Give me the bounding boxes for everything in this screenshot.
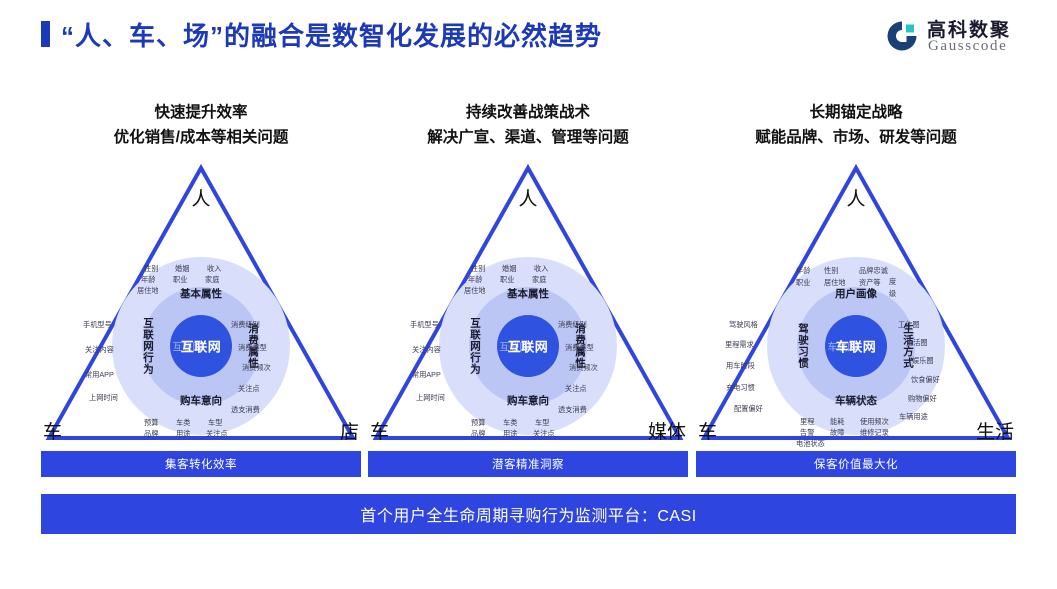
tag-3-b2b: 故障: [830, 428, 844, 438]
tag-2-b2a: 品牌: [471, 429, 485, 439]
tags-1: 性别 婚姻 收入 年龄 职业 家庭 居住地 手机型号 关注内容 常用APP 上网…: [41, 160, 361, 445]
tag-2-b2c: 关注点: [533, 429, 555, 439]
tag-1-b2a: 品牌: [144, 429, 158, 439]
logo-text-en: Gausscode: [928, 38, 1007, 55]
tag-1-l3: 常用APP: [85, 370, 114, 380]
tag-2-l4: 上网时间: [416, 393, 445, 403]
tag-2-r4: 关注点: [565, 384, 587, 394]
tag-3-l1: 驾驶风格: [729, 320, 758, 330]
tag-3-b2a: 告警: [800, 428, 814, 438]
title-accent-bar: [41, 21, 50, 47]
tag-1-r4: 关注点: [238, 384, 260, 394]
tags-2: 性别 婚姻 收入 年龄 职业 家庭 居住地 手机型号 关注内容 常用APP 上网…: [368, 160, 688, 445]
brand-logo: 高科数聚 Gausscode: [885, 15, 1035, 59]
tag-2-b1b: 车类: [503, 418, 517, 428]
tag-2-t2a: 年龄: [468, 275, 482, 285]
tag-3-l2: 里程需求: [725, 340, 754, 350]
tag-3-t2a: 职业: [796, 278, 810, 288]
footer-bar-1[interactable]: 集客转化效率: [41, 451, 361, 477]
tag-3-b3a: 电池状态: [796, 439, 825, 449]
column-heading-2-line2: 解决广宣、渠道、管理等问题: [368, 125, 688, 150]
tag-3-r1: 工作圈: [898, 320, 920, 330]
panel-2: 人 车 媒体 互联网 互联网 基本属性 购车意向 互联网行为 消费属性 性别 婚…: [368, 160, 688, 445]
tag-1-t1c: 收入: [207, 264, 221, 274]
tag-2-t2b: 职业: [500, 275, 514, 285]
tag-3-b1b: 能耗: [830, 417, 844, 427]
tag-1-l1: 手机型号: [83, 320, 112, 330]
tag-3-t2b: 居住地: [824, 278, 846, 288]
tag-2-t1c: 收入: [534, 264, 548, 274]
tag-2-r2: 消费类型: [565, 343, 594, 353]
tag-1-b1c: 车型: [208, 418, 222, 428]
tag-3-b1a: 里程: [800, 417, 814, 427]
tags-3: 年龄 性别 品牌忠诚 职业 居住地 资产等 度 级 驾驶风格 里程需求 用车时段…: [696, 160, 1016, 445]
tag-3-t1c: 品牌忠诚: [859, 266, 888, 276]
column-heading-2: 持续改善战策战术 解决广宣、渠道、管理等问题: [368, 100, 688, 150]
column-heading-3-line2: 赋能品牌、市场、研发等问题: [696, 125, 1016, 150]
tag-2-b1c: 车型: [535, 418, 549, 428]
panel-3: 人 车 生活 车联网 车联网 用户画像 车辆状态 驾驶习惯 生活方式 年龄 性别…: [696, 160, 1016, 445]
tag-3-l5: 配置偏好: [734, 404, 763, 414]
tag-1-r1: 消费级别: [231, 320, 260, 330]
tag-1-r3: 消费频次: [242, 363, 271, 373]
column-heading-1-line1: 快速提升效率: [41, 100, 361, 125]
tag-1-t2c: 家庭: [205, 275, 219, 285]
tag-1-t3a: 居住地: [137, 286, 159, 296]
tag-1-t2a: 年龄: [141, 275, 155, 285]
tag-3-l4: 充电习惯: [726, 383, 755, 393]
tag-3-t1a: 年龄: [796, 266, 810, 276]
tag-1-r5: 透支消费: [231, 405, 260, 415]
tag-3-r3: 娱乐圈: [912, 356, 934, 366]
column-headings: 快速提升效率 优化销售/成本等相关问题 持续改善战策战术 解决广宣、渠道、管理等…: [0, 100, 1057, 156]
tag-2-t1a: 性别: [471, 264, 485, 274]
column-heading-1-line2: 优化销售/成本等相关问题: [41, 125, 361, 150]
tag-3-r4: 饮食偏好: [911, 375, 940, 385]
tag-1-l4: 上网时间: [89, 393, 118, 403]
tag-1-b2b: 用途: [176, 429, 190, 439]
column-heading-3: 长期锚定战略 赋能品牌、市场、研发等问题: [696, 100, 1016, 150]
tag-1-b2c: 关注点: [206, 429, 228, 439]
tag-2-r1: 消费级别: [558, 320, 587, 330]
footer-bar-3[interactable]: 保客价值最大化: [696, 451, 1016, 477]
tag-2-t1b: 婚姻: [502, 264, 516, 274]
column-heading-2-line1: 持续改善战策战术: [368, 100, 688, 125]
tag-2-r5: 透支消费: [558, 405, 587, 415]
tag-1-t1b: 婚姻: [175, 264, 189, 274]
tag-2-t3a: 居住地: [464, 286, 486, 296]
tag-1-b1a: 预算: [144, 418, 158, 428]
tag-2-l3: 常用APP: [412, 370, 441, 380]
platform-banner[interactable]: 首个用户全生命周期寻购行为监测平台：CASI: [41, 494, 1016, 534]
tag-2-b2b: 用途: [503, 429, 517, 439]
panel-1: 人 车 店 互联网 互联网 基本属性 购车意向 互联网行为 消费属性 性别 婚姻…: [41, 160, 361, 445]
tag-3-r5: 购物偏好: [908, 394, 937, 404]
column-heading-3-line1: 长期锚定战略: [696, 100, 1016, 125]
tag-3-b1c: 使用频次: [860, 417, 889, 427]
tag-1-l2: 关注内容: [85, 345, 114, 355]
tag-2-l2: 关注内容: [412, 345, 441, 355]
tag-3-t2c: 资产等: [859, 278, 881, 288]
tag-1-b1b: 车类: [176, 418, 190, 428]
tag-3-t3b: 级: [889, 289, 896, 299]
tag-2-t2c: 家庭: [532, 275, 546, 285]
slide-header: “人、车、场”的融合是数智化发展的必然趋势 高科数聚 Gausscode: [0, 0, 1057, 70]
slide-root: “人、车、场”的融合是数智化发展的必然趋势 高科数聚 Gausscode 快速提…: [0, 0, 1057, 589]
footer-bar-2[interactable]: 潜客精准洞察: [368, 451, 688, 477]
tag-3-t1b: 性别: [824, 266, 838, 276]
tag-3-b2c: 维修记录: [860, 428, 889, 438]
tag-2-l1: 手机型号: [410, 320, 439, 330]
tag-1-r2: 消费类型: [238, 343, 267, 353]
page-title: “人、车、场”的融合是数智化发展的必然趋势: [61, 16, 602, 53]
tag-2-b1a: 预算: [471, 418, 485, 428]
tag-3-t3a: 度: [889, 277, 896, 287]
tag-3-r6: 车辆用途: [899, 412, 928, 422]
tag-3-l3: 用车时段: [726, 361, 755, 371]
gausscode-g-logo-icon: [885, 19, 919, 53]
tag-3-r2: 生活圈: [906, 338, 928, 348]
tag-1-t2b: 职业: [173, 275, 187, 285]
column-heading-1: 快速提升效率 优化销售/成本等相关问题: [41, 100, 361, 150]
tag-1-t1a: 性别: [144, 264, 158, 274]
tag-2-r3: 消费频次: [569, 363, 598, 373]
